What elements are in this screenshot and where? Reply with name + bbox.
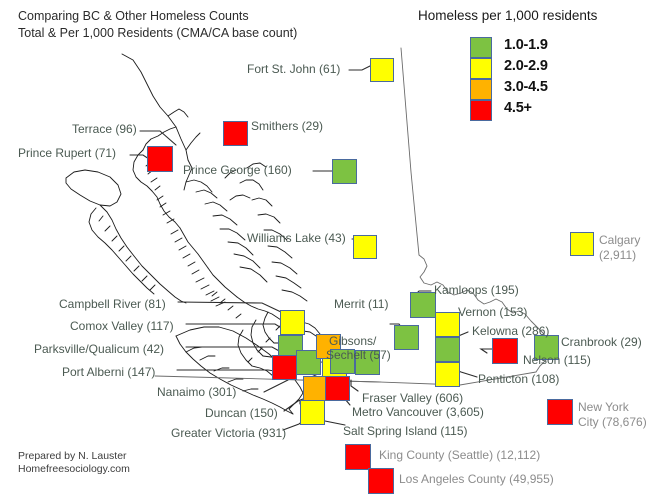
label-prince-george: Prince George (160) <box>183 163 292 177</box>
label-penticton: Penticton (108) <box>478 372 559 386</box>
legend-item-1: 1.0-1.9 <box>470 37 492 58</box>
marker-nelson <box>492 338 518 364</box>
legend-label-2: 2.0-2.9 <box>504 58 548 74</box>
legend-item-4: 4.5+ <box>470 100 492 121</box>
label-port-alberni: Port Alberni (147) <box>62 365 155 379</box>
label-nanaimo: Nanaimo (301) <box>157 385 236 399</box>
label-calgary-line1: Calgary <box>599 233 640 247</box>
legend-swatch-orange <box>470 79 492 100</box>
label-fort-st-john: Fort St. John (61) <box>247 62 340 76</box>
label-los-angeles-county: Los Angeles County (49,955) <box>399 472 554 486</box>
marker-smithers <box>223 121 248 146</box>
legend-label-1: 1.0-1.9 <box>504 37 548 53</box>
label-vernon: Vernon (153) <box>458 305 527 319</box>
label-gibsons-sechelt-line2: Sechelt (57) <box>326 348 391 362</box>
marker-calgary <box>570 232 594 256</box>
label-williams-lake: Williams Lake (43) <box>247 231 346 245</box>
marker-prince-george <box>332 159 357 184</box>
marker-port-alberni <box>272 355 297 380</box>
label-king-county: King County (Seattle) (12,112) <box>379 448 540 462</box>
marker-king-county <box>345 444 371 470</box>
credit-line1: Prepared by N. Lauster <box>18 450 130 463</box>
label-calgary-line2: (2,911) <box>599 248 636 262</box>
credit: Prepared by N. Lauster Homefreesociology… <box>18 450 130 476</box>
legend-item-3: 3.0-4.5 <box>470 79 492 100</box>
label-salt-spring-island: Salt Spring Island (115) <box>343 424 468 438</box>
marker-kamloops <box>410 292 436 318</box>
marker-merrit <box>394 325 419 350</box>
figure-title-line1: Comparing BC & Other Homeless Counts <box>18 8 398 25</box>
legend-swatch-red <box>470 100 492 121</box>
label-gibsons-sechelt-line1: Gibsons/ <box>329 334 376 348</box>
label-nelson: Nelson (115) <box>523 353 591 367</box>
marker-vernon <box>435 312 460 337</box>
label-kelowna: Kelowna (286) <box>472 324 549 338</box>
marker-kelowna <box>435 337 460 362</box>
legend-swatch-green <box>470 37 492 58</box>
label-cranbrook: Cranbrook (29) <box>561 335 642 349</box>
legend-title: Homeless per 1,000 residents <box>418 8 597 23</box>
marker-los-angeles-county <box>368 468 394 494</box>
legend-label-3: 3.0-4.5 <box>504 79 548 95</box>
marker-greater-victoria <box>300 400 325 425</box>
credit-line2: Homefreesociology.com <box>18 463 130 476</box>
label-prince-rupert: Prince Rupert (71) <box>18 146 116 160</box>
label-parksville-qualicum: Parksville/Qualicum (42) <box>34 342 164 356</box>
label-comox-valley: Comox Valley (117) <box>70 319 174 333</box>
marker-fort-st-john <box>370 58 394 82</box>
label-merrit: Merrit (11) <box>334 297 388 311</box>
marker-salt-spring-island <box>325 376 350 401</box>
legend-swatch-yellow <box>470 58 492 79</box>
marker-prince-rupert <box>147 146 173 172</box>
marker-williams-lake <box>353 235 377 259</box>
label-smithers: Smithers (29) <box>251 119 323 133</box>
marker-campbell-river <box>280 310 305 335</box>
legend-item-2: 2.0-2.9 <box>470 58 492 79</box>
map-figure: Comparing BC & Other Homeless Counts Tot… <box>0 0 656 492</box>
label-new-york-city-line1: New York <box>578 400 629 414</box>
label-kamloops: Kamloops (195) <box>434 283 519 297</box>
marker-new-york-city <box>547 399 573 425</box>
label-greater-victoria: Greater Victoria (931) <box>171 426 286 440</box>
figure-title: Comparing BC & Other Homeless Counts Tot… <box>18 8 398 42</box>
label-campbell-river: Campbell River (81) <box>59 297 166 311</box>
label-duncan: Duncan (150) <box>205 406 278 420</box>
label-fraser-valley: Fraser Valley (606) <box>362 391 463 405</box>
marker-penticton <box>435 362 460 387</box>
legend-label-4: 4.5+ <box>504 100 532 116</box>
label-new-york-city-line2: City (78,676) <box>578 415 647 429</box>
label-terrace: Terrace (96) <box>72 122 137 136</box>
label-metro-vancouver: Metro Vancouver (3,605) <box>352 405 484 419</box>
legend: 1.0-1.9 2.0-2.9 3.0-4.5 4.5+ <box>470 37 492 121</box>
figure-title-line2: Total & Per 1,000 Residents (CMA/CA base… <box>18 25 398 42</box>
